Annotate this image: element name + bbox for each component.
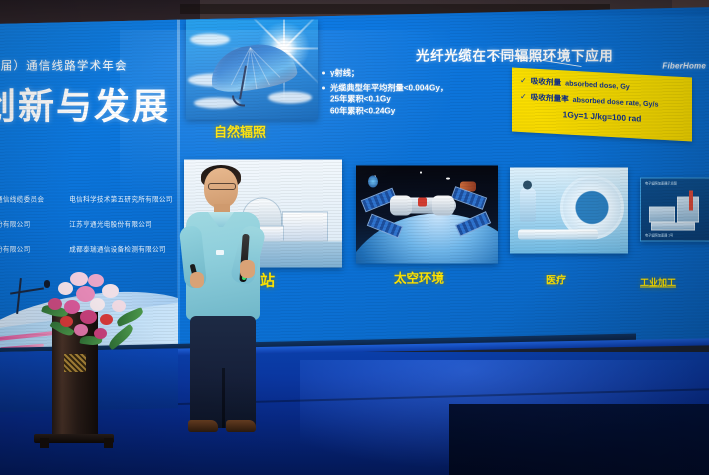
speaker-left-hand [190,272,204,288]
callout-term-en: absorbed dose rate, Gy/s [573,95,659,109]
organizer-row: 通信线缆委员会 电信科学技术第五研究所有限公司 [0,193,178,203]
callout-anchor-dot [492,57,496,61]
callout-formula: 1Gy=1 J/kg=100 rad [520,107,684,126]
speaker-leg-gap [222,368,225,428]
tile-caption-medical: 医疗 [546,271,566,286]
accelerator-column [689,190,693,210]
equipment-block [651,222,695,230]
event-title: 创新与发展 [0,77,170,129]
tile-space-environment [356,165,498,263]
stage-floor-shadow [449,404,709,475]
absorbed-dose-callout: ✓ 吸收剂量 absorbed dose, Gy ✓ 吸收剂量率 absorbe… [512,67,692,141]
station-module [432,195,454,215]
callout-term-cn: 吸收剂量 [531,76,561,89]
equipment-block [649,206,675,222]
bullet-text: γ射线； [330,67,359,79]
flower-arrangement [40,272,144,352]
ct-patient-bed [518,229,598,239]
callout-term-cn: 吸收剂量率 [531,92,569,105]
distant-object-icon [368,175,378,187]
speaker-figure [182,168,268,428]
check-icon: ✓ [520,76,527,85]
organizer-name-left: 份有限公司 [0,243,57,253]
tile-natural-irradiation [186,19,318,119]
event-subtitle: （届）通信线路学术年会 [0,57,128,73]
flag-marking [418,197,427,206]
organizer-list: 通信线缆委员会 电信科学技术第五研究所有限公司 份有限公司 江苏亨通光电股份有限… [0,193,178,268]
organizer-name-right: 成都泰瑞通信设备检测有限公司 [69,243,178,253]
organizer-name-right: 电信科学技术第五研究所有限公司 [69,193,178,203]
cloud-shape [268,91,312,103]
plant-building [282,211,328,241]
industrial-top-label: 电子辐照加速器示意图 [645,180,677,185]
glasses-icon [208,183,236,190]
speaker-badge [216,250,224,255]
podium-foot [104,438,113,448]
bullet-dot-icon [322,71,325,74]
station-module [390,195,412,215]
speaker-shoe [226,420,256,432]
podium-foot [40,438,49,448]
equipment-block [677,196,699,222]
tile-industrial-processing: 电子辐照加速器示意图 电子辐照加速器 1号 [640,177,709,241]
bullet-item: γ射线； [322,67,522,79]
tile-medical [510,167,628,253]
podium-emblem [64,354,86,372]
organizer-row: 份有限公司 成都泰瑞通信设备检测有限公司 [0,243,178,253]
speaker-shoe [188,420,218,432]
check-icon: ✓ [520,92,527,101]
bullet-text: 光缆典型年平均剂量<0.004Gy， 25年累积<0.1Gy 60年累积<0.2… [330,82,448,117]
speaker-right-hand [240,260,255,278]
organizer-name-left: 通信线缆委员会 [0,193,57,203]
fiberhome-logo: FiberHome [662,61,706,70]
bullet-item: 光缆典型年平均剂量<0.004Gy， 25年累积<0.1Gy 60年累积<0.2… [322,82,522,117]
conference-stage-photo: （届）通信线路学术年会 创新与发展 通信线缆委员会 电信科学技术第五研究所有限公… [0,0,709,475]
tile-caption-natural: 自然辐照 [214,121,266,140]
clinician-figure [520,187,536,221]
slide-bullet-list: γ射线； 光缆典型年平均剂量<0.004Gy， 25年累积<0.1Gy 60年累… [322,67,522,119]
industrial-bottom-label: 电子辐照加速器 1号 [645,232,673,237]
callout-term-en: absorbed dose, Gy [565,78,630,91]
organizer-name-left: 份有限公司 [0,218,57,228]
organizer-name-right: 江苏亨通光电股份有限公司 [69,218,178,228]
organizer-row: 份有限公司 江苏亨通光电股份有限公司 [0,218,178,228]
cloud-shape [190,33,230,45]
tile-caption-space: 太空环境 [394,267,444,286]
clinician-head [523,180,532,189]
bullet-dot-icon [322,86,325,89]
tile-caption-industrial: 工业加工 [640,275,676,288]
